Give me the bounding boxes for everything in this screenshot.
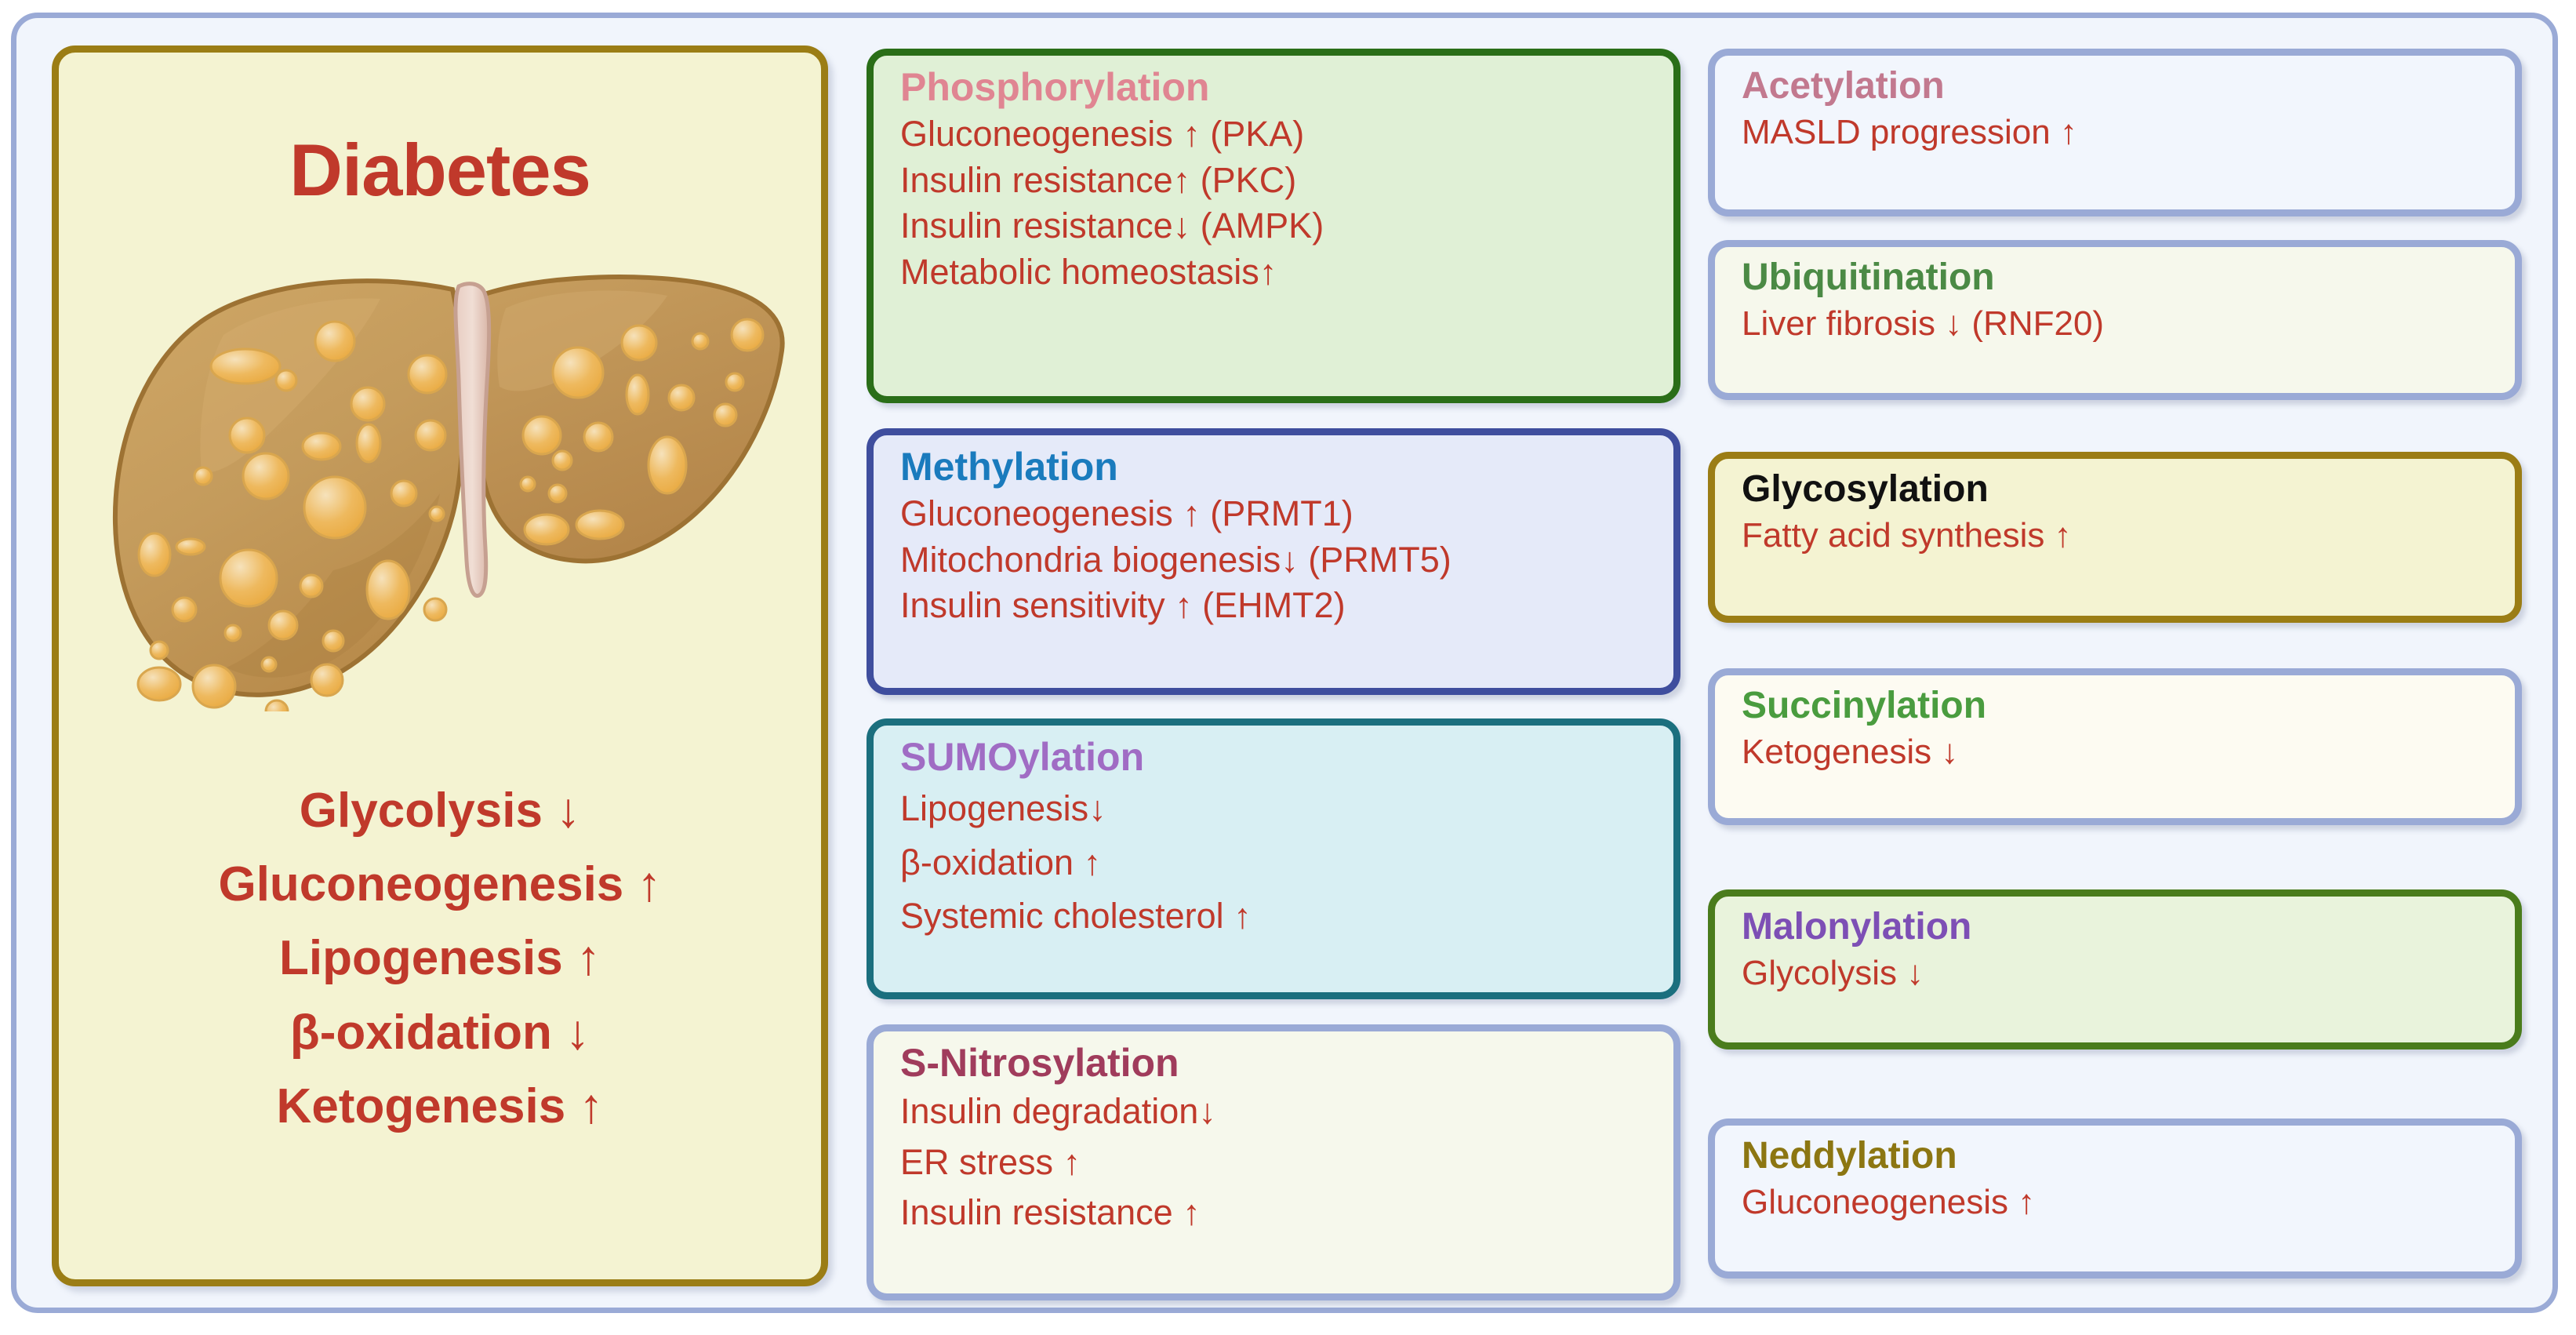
card-line: MASLD progression ↑ (1742, 110, 2491, 155)
card-heading: Ubiquitination (1742, 258, 2491, 298)
pathway-glycolysis: Glycolysis ↓ (59, 774, 821, 848)
card-s-nitrosylation: S-Nitrosylation Insulin degradation↓ ER … (867, 1024, 1680, 1300)
card-line: Glycolysis ↓ (1742, 951, 2491, 995)
card-heading: Phosphorylation (900, 67, 1650, 108)
card-heading: Neddylation (1742, 1137, 2491, 1177)
card-line: Insulin resistance ↑ (900, 1190, 1650, 1236)
card-line: Fatty acid synthesis ↑ (1742, 513, 2491, 558)
pathway-ketogenesis: Ketogenesis ↑ (59, 1070, 821, 1144)
card-line: Insulin degradation↓ (900, 1089, 1650, 1135)
card-heading: Succinylation (1742, 686, 2491, 726)
card-line: Metabolic homeostasis↑ (900, 249, 1650, 296)
card-heading: S-Nitrosylation (900, 1042, 1650, 1084)
card-succinylation: Succinylation Ketogenesis ↓ (1708, 668, 2522, 825)
card-line: Insulin resistance↑ (PKC) (900, 158, 1650, 204)
card-line: Mitochondria biogenesis↓ (PRMT5) (900, 537, 1650, 584)
card-heading: Methylation (900, 446, 1650, 488)
card-line: Lipogenesis↓ (900, 786, 1650, 832)
card-ubiquitination: Ubiquitination Liver fibrosis ↓ (RNF20) (1708, 240, 2522, 400)
card-acetylation: Acetylation MASLD progression ↑ (1708, 49, 2522, 216)
figure-canvas: Diabetes (0, 0, 2576, 1335)
card-line: ER stress ↑ (900, 1140, 1650, 1186)
card-line: β-oxidation ↑ (900, 840, 1650, 886)
card-line: Ketogenesis ↓ (1742, 729, 2491, 774)
card-line: Gluconeogenesis ↑ (PKA) (900, 111, 1650, 158)
page-title: Diabetes (59, 128, 821, 213)
card-sumoylation: SUMOylation Lipogenesis↓ β-oxidation ↑ S… (867, 718, 1680, 999)
card-line: Liver fibrosis ↓ (RNF20) (1742, 301, 2491, 346)
card-phosphorylation: Phosphorylation Gluconeogenesis ↑ (PKA) … (867, 49, 1680, 403)
card-line: Gluconeogenesis ↑ (1742, 1180, 2491, 1224)
card-heading: SUMOylation (900, 737, 1650, 778)
card-malonylation: Malonylation Glycolysis ↓ (1708, 889, 2522, 1049)
card-line: Systemic cholesterol ↑ (900, 893, 1650, 940)
card-methylation: Methylation Gluconeogenesis ↑ (PRMT1) Mi… (867, 428, 1680, 695)
card-glycosylation: Glycosylation Fatty acid synthesis ↑ (1708, 452, 2522, 623)
pathway-beta-oxidation: β-oxidation ↓ (59, 996, 821, 1070)
card-neddylation: Neddylation Gluconeogenesis ↑ (1708, 1119, 2522, 1279)
pathway-gluconeogenesis: Gluconeogenesis ↑ (59, 848, 821, 922)
card-heading: Glycosylation (1742, 470, 2491, 510)
metabolic-pathway-list: Glycolysis ↓ Gluconeogenesis ↑ Lipogenes… (59, 774, 821, 1144)
fatty-liver-icon (98, 241, 796, 711)
card-heading: Acetylation (1742, 67, 2491, 107)
card-line: Gluconeogenesis ↑ (PRMT1) (900, 491, 1650, 537)
card-heading: Malonylation (1742, 908, 2491, 948)
pathway-lipogenesis: Lipogenesis ↑ (59, 922, 821, 995)
diabetes-panel: Diabetes (52, 45, 828, 1286)
card-line: Insulin resistance↓ (AMPK) (900, 203, 1650, 249)
card-line: Insulin sensitivity ↑ (EHMT2) (900, 583, 1650, 629)
